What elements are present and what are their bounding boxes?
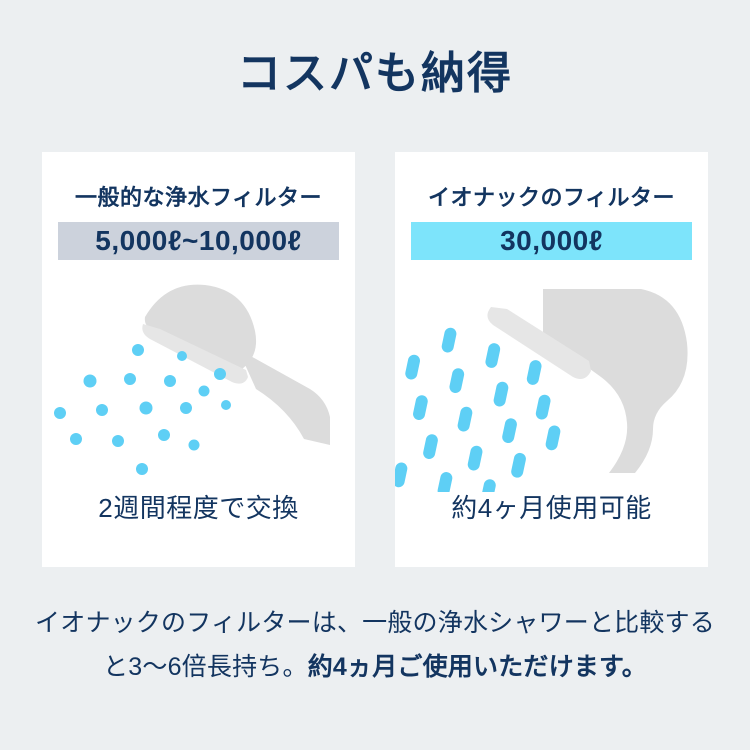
footer-line-2-strong: 約4ヵ月ご使用いただけます。	[308, 653, 647, 681]
volume-value-ionac: 30,000ℓ	[500, 225, 603, 257]
shower-illustration-dense	[395, 277, 708, 492]
volume-value-standard: 5,000ℓ~10,000ℓ	[95, 225, 301, 257]
card-standard-filter: 一般的な浄水フィルター 5,000ℓ~10,000ℓ	[42, 152, 355, 567]
card-caption-standard: 2週間程度で交換	[42, 488, 355, 525]
footer-line-1: イオナックのフィルターは、一般の浄水シャワーと比較する	[0, 602, 750, 646]
volume-band-standard: 5,000ℓ~10,000ℓ	[58, 222, 339, 260]
card-header-standard: 一般的な浄水フィルター	[42, 180, 355, 212]
card-ionac-filter: イオナックのフィルター 30,000ℓ	[395, 152, 708, 567]
footer-description: イオナックのフィルターは、一般の浄水シャワーと比較する と3〜6倍長持ち。約4ヵ…	[0, 602, 750, 690]
page-title: コスパも納得	[0, 48, 750, 101]
footer-line-2-normal: と3〜6倍長持ち。	[103, 653, 308, 681]
card-caption-ionac: 約4ヶ月使用可能	[395, 488, 708, 525]
volume-band-ionac: 30,000ℓ	[411, 222, 692, 260]
card-header-ionac: イオナックのフィルター	[395, 180, 708, 212]
footer-line-2: と3〜6倍長持ち。約4ヵ月ご使用いただけます。	[0, 646, 750, 690]
shower-illustration-sparse	[42, 277, 355, 492]
comparison-cards: 一般的な浄水フィルター 5,000ℓ~10,000ℓ	[42, 152, 708, 567]
